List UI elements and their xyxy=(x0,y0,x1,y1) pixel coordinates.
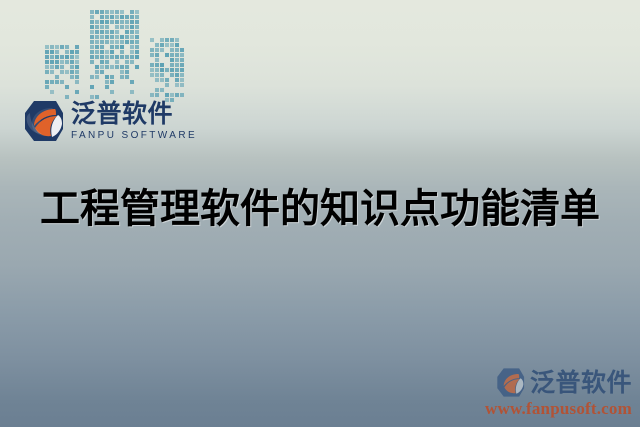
brand-lockup: 泛普软件 FANPU SOFTWARE xyxy=(22,99,197,143)
page-title: 工程管理软件的知识点功能清单 xyxy=(0,186,640,232)
brand-wordmark: 泛普软件 FANPU SOFTWARE xyxy=(71,101,197,140)
watermark-logo-row: 泛普软件 xyxy=(495,367,632,398)
poster-canvas: 泛普软件 FANPU SOFTWARE 工程管理软件的知识点功能清单 泛普软件 … xyxy=(0,0,640,427)
fanpu-logo-mark-icon xyxy=(495,367,525,398)
brand-name-cn: 泛普软件 xyxy=(71,101,197,127)
watermark-url: www.fanpusoft.com xyxy=(485,399,632,419)
watermark: 泛普软件 www.fanpusoft.com xyxy=(485,367,632,419)
watermark-name-cn: 泛普软件 xyxy=(530,370,632,395)
fanpu-logo-mark-icon xyxy=(22,99,64,143)
brand-name-en: FANPU SOFTWARE xyxy=(71,130,197,141)
pixel-city-skyline-icon xyxy=(45,5,163,100)
